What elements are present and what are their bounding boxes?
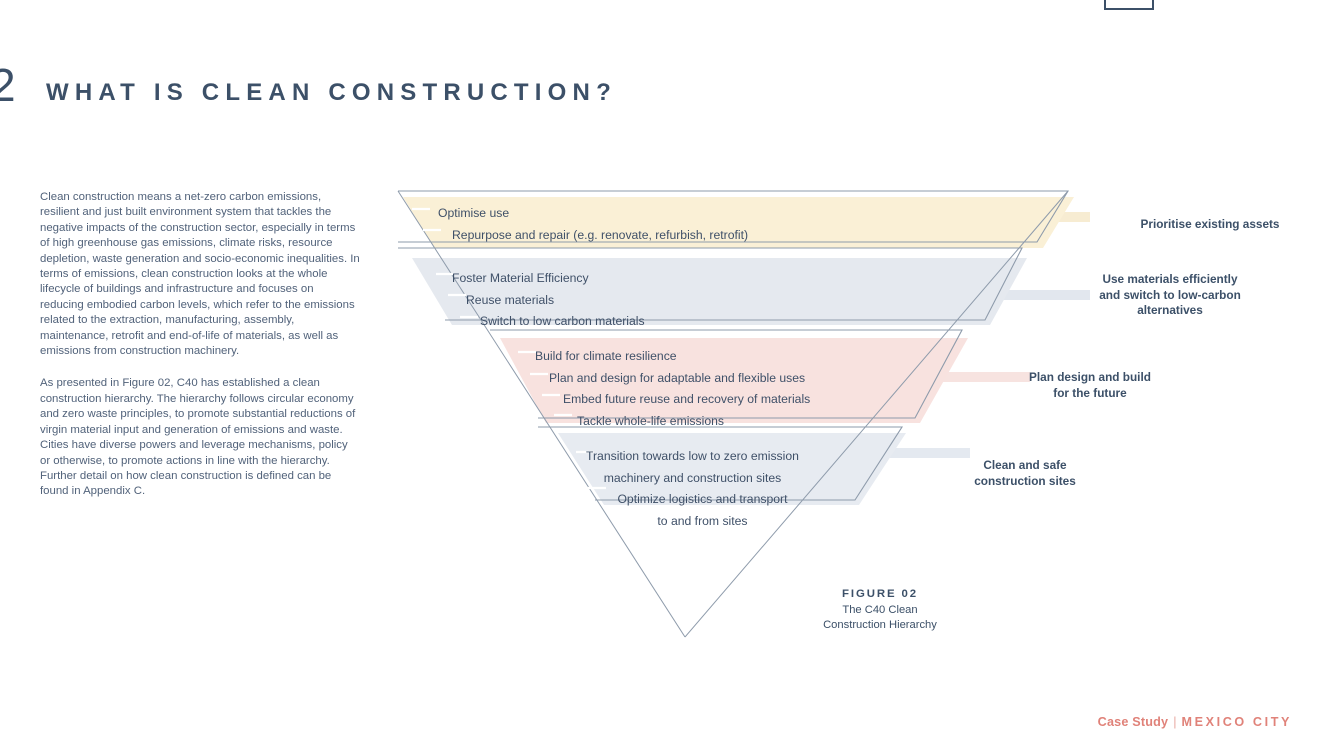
- tier-4-text: Transition towards low to zero emission …: [586, 446, 799, 532]
- tier-2-line-2: Reuse materials: [452, 290, 645, 312]
- figure-caption-line-1: The C40 Clean: [790, 603, 970, 618]
- footer-city: MEXICO CITY: [1182, 715, 1292, 729]
- tier-4-line-3: Optimize logistics and transport: [586, 489, 799, 511]
- callout-tier-3: Plan design and build for the future: [995, 370, 1185, 401]
- figure-caption-label: FIGURE 02: [790, 588, 970, 600]
- callout-tier-2-line-1: Use materials efficiently: [1080, 272, 1260, 288]
- tier-3-line-4: Tackle whole-life emissions: [535, 411, 810, 433]
- tier-4-line-1: Transition towards low to zero emission: [586, 446, 799, 468]
- tier-4-line-4: to and from sites: [586, 511, 799, 533]
- footer: Case Study|MEXICO CITY: [1098, 715, 1292, 729]
- tier-2-line-3: Switch to low carbon materials: [452, 311, 645, 333]
- tier-4-line-2: machinery and construction sites: [586, 468, 799, 490]
- clean-construction-hierarchy-figure: Optimise use Repurpose and repair (e.g. …: [390, 180, 1090, 650]
- tier-1-line-1: Optimise use: [438, 203, 748, 225]
- footer-separator: |: [1168, 715, 1181, 729]
- body-paragraph-2: As presented in Figure 02, C40 has estab…: [40, 376, 360, 499]
- callout-tier-3-line-2: for the future: [995, 386, 1185, 402]
- tier-2-line-1: Foster Material Efficiency: [452, 268, 645, 290]
- figure-caption-line-2: Construction Hierarchy: [790, 618, 970, 633]
- tier-3-text: Build for climate resilience Plan and de…: [535, 346, 810, 432]
- callout-tier-4-line-1: Clean and safe: [935, 458, 1115, 474]
- callout-tier-2-line-3: alternatives: [1080, 303, 1260, 319]
- tier-3-line-3: Embed future reuse and recovery of mater…: [535, 389, 810, 411]
- tier-1-text: Optimise use Repurpose and repair (e.g. …: [438, 203, 748, 246]
- callout-tier-4-line-2: construction sites: [935, 474, 1115, 490]
- callout-tier-4: Clean and safe construction sites: [935, 458, 1115, 489]
- top-marker-box: [1104, 0, 1154, 10]
- callout-tier-1: Prioritise existing assets: [1120, 217, 1300, 233]
- callout-tier-2-line-2: and switch to low-carbon: [1080, 288, 1260, 304]
- page-title: WHAT IS CLEAN CONSTRUCTION?: [46, 79, 617, 107]
- tier-3-line-2: Plan and design for adaptable and flexib…: [535, 368, 810, 390]
- tier-3-line-1: Build for climate resilience: [535, 346, 810, 368]
- tier-2-text: Foster Material Efficiency Reuse materia…: [452, 268, 645, 333]
- callout-tier-3-line-1: Plan design and build: [995, 370, 1185, 386]
- body-paragraph-1: Clean construction means a net-zero carb…: [40, 190, 360, 359]
- callout-tier-2: Use materials efficiently and switch to …: [1080, 272, 1260, 319]
- slide-page: 2 WHAT IS CLEAN CONSTRUCTION? Clean cons…: [0, 0, 1320, 743]
- figure-caption: FIGURE 02 The C40 Clean Construction Hie…: [790, 588, 970, 632]
- footer-case-study: Case Study: [1098, 715, 1169, 729]
- tier-1-line-2: Repurpose and repair (e.g. renovate, ref…: [438, 225, 748, 247]
- body-text-column: Clean construction means a net-zero carb…: [40, 190, 360, 517]
- page-number: 2: [0, 62, 17, 108]
- callout-tier-1-line-1: Prioritise existing assets: [1140, 217, 1279, 231]
